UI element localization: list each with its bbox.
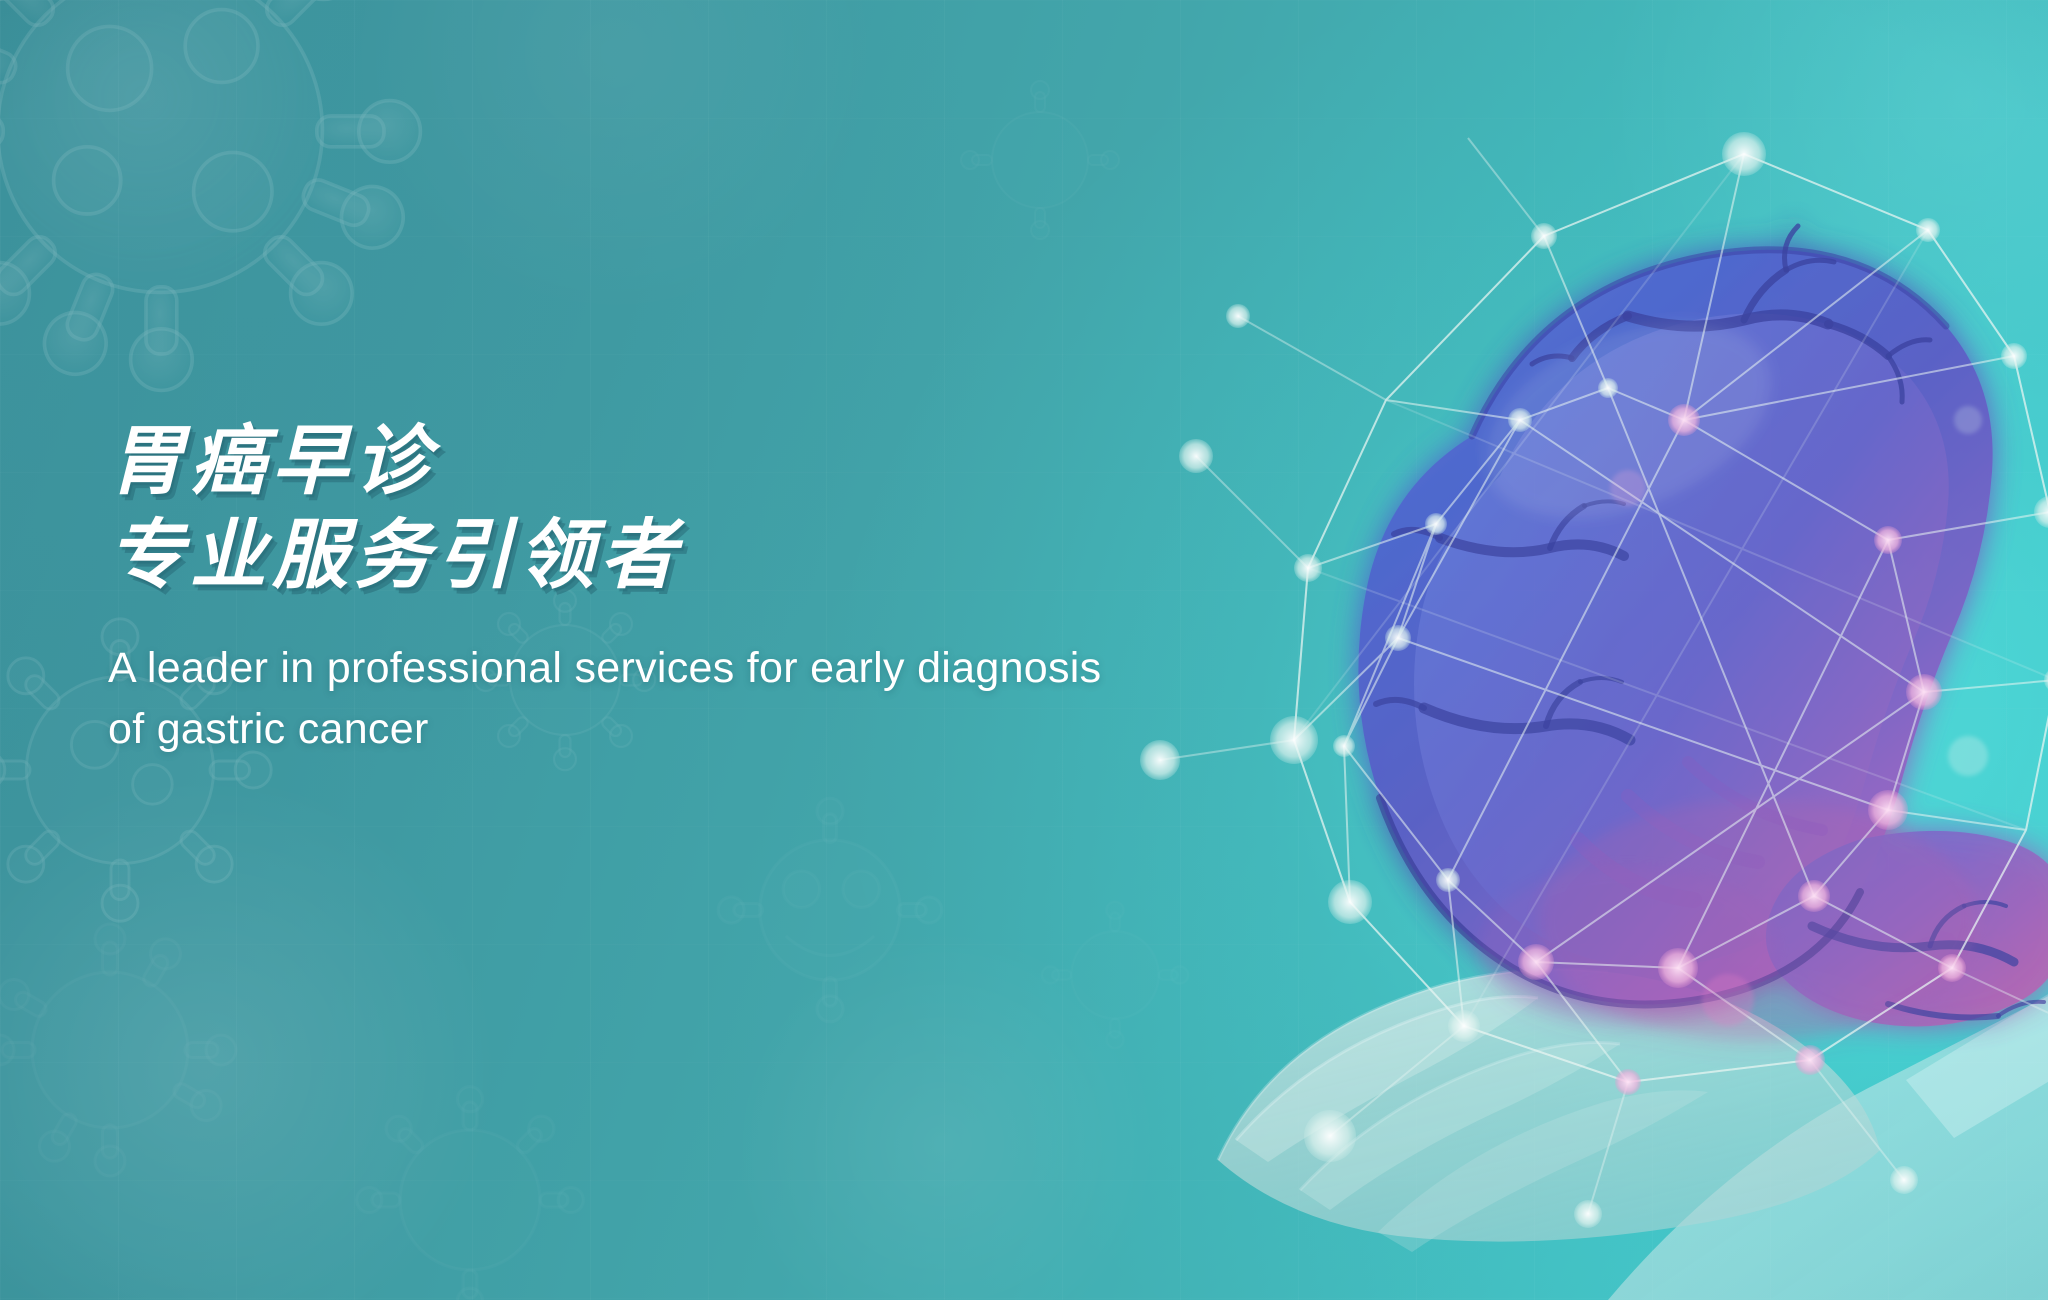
virus-particle-icon <box>330 1060 610 1300</box>
virus-particle-icon <box>1020 880 1210 1070</box>
subhead-text: A leader in professional services for ea… <box>108 638 1118 760</box>
headline-block: 胃癌早诊 专业服务引领者 A leader in professional se… <box>108 418 1188 760</box>
hand-group <box>1218 969 2048 1300</box>
headline-line-2: 专业服务引领者 <box>108 512 1188 600</box>
virus-particle-icon <box>700 780 960 1040</box>
virus-particle-icon <box>940 60 1140 260</box>
promotional-banner: 胃癌早诊 专业服务引领者 A leader in professional se… <box>0 0 2048 1300</box>
virus-particle-icon <box>0 0 440 410</box>
network-nodes <box>1140 132 2048 1228</box>
headline-line-1: 胃癌早诊 <box>108 418 1188 506</box>
stomach-organ <box>1358 226 2048 1040</box>
virus-particle-icon <box>0 900 260 1200</box>
stomach-artwork <box>1068 120 2048 1300</box>
network-mesh <box>1160 138 2048 1214</box>
